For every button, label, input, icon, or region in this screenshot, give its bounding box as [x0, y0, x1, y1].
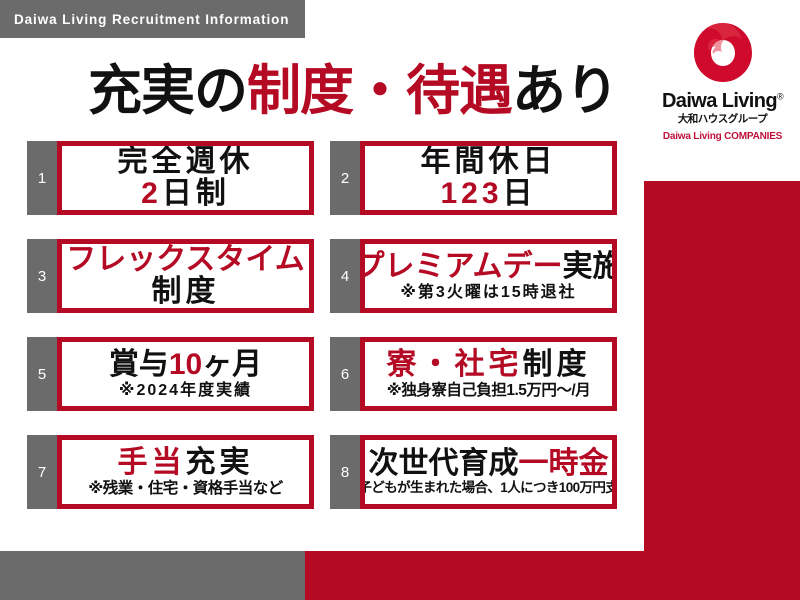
benefit-number-8: 8	[330, 435, 360, 509]
benefit-line1-5-black-c: ヶ月	[202, 348, 262, 381]
benefit-line1-3-red: フレックスタイム	[66, 243, 305, 276]
benefit-sub-6: ※独身寮自己負担1.5万円〜/月	[387, 382, 590, 399]
benefit-number-5: 5	[27, 337, 57, 411]
page-title: 充実の制度・待遇あり	[88, 56, 618, 126]
benefit-line1-3: フレックスタイム	[66, 244, 305, 276]
benefit-item-2[interactable]: 2 年間休日 123日	[330, 141, 617, 215]
benefit-line1-4-red: プレミアムデー	[360, 250, 562, 283]
benefit-number-6: 6	[330, 337, 360, 411]
benefit-number-3: 3	[27, 239, 57, 313]
benefit-line1-7-black: 充実	[186, 446, 254, 479]
benefit-item-4[interactable]: 4 プレミアムデー実施 ※第3火曜は15時退社	[330, 239, 617, 313]
benefit-number-1: 1	[27, 141, 57, 215]
logo-registered-mark: ®	[777, 91, 783, 101]
page-title-part-3: あり	[512, 64, 618, 118]
benefit-line2-3-black: 制度	[152, 275, 220, 308]
benefit-line1-7: 手当充実	[118, 447, 254, 479]
background-red-block-right	[644, 181, 800, 600]
slide-canvas: Daiwa Living Recruitment Information 充実の…	[0, 0, 800, 600]
benefit-line2-2-red: 123	[440, 177, 502, 210]
benefit-box-2: 年間休日 123日	[360, 141, 617, 215]
benefit-line2-1-black: 日制	[162, 177, 230, 210]
benefit-item-6[interactable]: 6 寮・社宅制度 ※独身寮自己負担1.5万円〜/月	[330, 337, 617, 411]
benefit-number-4: 4	[330, 239, 360, 313]
benefit-item-7[interactable]: 7 手当充実 ※残業・住宅・資格手当など	[27, 435, 314, 509]
benefit-line1-8-black: 次世代育成	[369, 447, 519, 480]
benefit-line1-5-black-a: 賞与	[109, 348, 169, 381]
benefit-sub-4: ※第3火曜は15時退社	[400, 284, 576, 302]
benefit-sub-5: ※2024年度実績	[119, 382, 252, 400]
benefit-line2-2: 123日	[440, 178, 536, 210]
benefit-box-8: 次世代育成一時金 ※子どもが生まれた場合、1人につき100万円支給	[360, 435, 617, 509]
benefit-box-7: 手当充実 ※残業・住宅・資格手当など	[57, 435, 314, 509]
benefit-box-6: 寮・社宅制度 ※独身寮自己負担1.5万円〜/月	[360, 337, 617, 411]
benefit-line1-1-text: 完全週休	[118, 145, 254, 178]
benefit-line1-5: 賞与10ヶ月	[109, 349, 262, 381]
header-label: Daiwa Living Recruitment Information	[0, 12, 289, 27]
benefit-line2-2-black: 日	[503, 177, 537, 210]
background-red-band-bottom	[305, 551, 800, 600]
benefit-box-4: プレミアムデー実施 ※第3火曜は15時退社	[360, 239, 617, 313]
benefit-item-1[interactable]: 1 完全週休 2日制	[27, 141, 314, 215]
benefit-line2-1-red: 2	[141, 177, 162, 210]
benefit-line1-4: プレミアムデー実施	[360, 251, 617, 283]
benefit-line2-3: 制度	[152, 276, 220, 308]
page-title-part-2: 制度・待遇	[247, 64, 512, 118]
benefit-number-7: 7	[27, 435, 57, 509]
benefit-line2-1: 2日制	[141, 178, 230, 210]
logo-group-name: 大和ハウスグループ	[678, 114, 767, 125]
benefit-line1-1: 完全週休	[118, 146, 254, 178]
benefit-number-2: 2	[330, 141, 360, 215]
benefit-line1-2: 年間休日	[421, 146, 557, 178]
benefit-line1-5-red: 10	[169, 348, 202, 381]
company-logo: Daiwa Living® 大和ハウスグループ Daiwa Living COM…	[645, 14, 800, 154]
page-title-part-1: 充実の	[88, 64, 247, 118]
benefit-line1-6-black: 制度	[523, 348, 591, 381]
benefit-item-3[interactable]: 3 フレックスタイム 制度	[27, 239, 314, 313]
benefit-sub-8: ※子どもが生まれた場合、1人につき100万円支給	[360, 481, 617, 496]
benefit-sub-7: ※残業・住宅・資格手当など	[88, 480, 283, 497]
benefit-box-1: 完全週休 2日制	[57, 141, 314, 215]
benefit-line1-6: 寮・社宅制度	[387, 349, 591, 381]
benefit-line1-7-red: 手当	[118, 446, 186, 479]
background-gray-band-bottom	[0, 551, 305, 600]
benefit-line1-8: 次世代育成一時金	[369, 448, 609, 480]
benefit-item-5[interactable]: 5 賞与10ヶ月 ※2024年度実績	[27, 337, 314, 411]
logo-wordmark-text: Daiwa Living	[662, 90, 777, 112]
benefit-line1-2-text: 年間休日	[421, 145, 557, 178]
ring-heart-logo-icon	[687, 16, 759, 88]
header-bar: Daiwa Living Recruitment Information	[0, 0, 305, 38]
benefit-item-8[interactable]: 8 次世代育成一時金 ※子どもが生まれた場合、1人につき100万円支給	[330, 435, 617, 509]
benefit-box-3: フレックスタイム 制度	[57, 239, 314, 313]
logo-companies-line: Daiwa Living COMPANIES	[663, 132, 782, 142]
benefit-line1-4-black: 実施	[562, 250, 617, 283]
benefit-line1-6-red: 寮・社宅	[387, 348, 523, 381]
benefit-box-5: 賞与10ヶ月 ※2024年度実績	[57, 337, 314, 411]
logo-wordmark: Daiwa Living®	[662, 91, 783, 111]
benefit-line1-8-red: 一時金	[519, 447, 609, 480]
